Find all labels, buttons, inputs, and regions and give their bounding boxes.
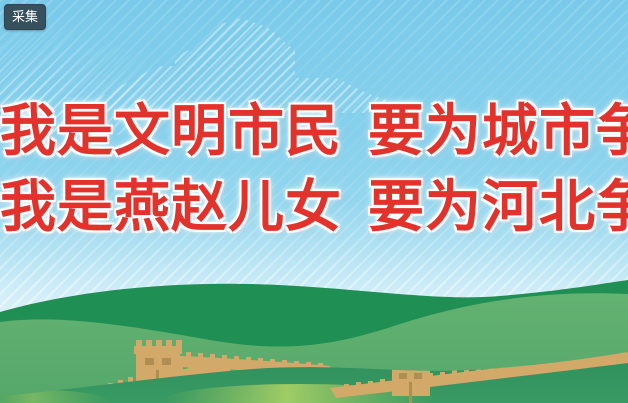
slogan-line-2: 我是燕赵儿女要为河北争气	[0, 180, 628, 236]
slogan-line-1: 我是文明市民要为城市争光	[0, 104, 628, 160]
banner-image: 我是文明市民要为城市争光 我是燕赵儿女要为河北争气 采集	[0, 0, 628, 403]
capture-button[interactable]: 采集	[4, 4, 46, 30]
landscape-hills	[0, 278, 628, 403]
slogan-line2-left: 我是燕赵儿女	[0, 175, 342, 240]
slogan-line1-right: 要为城市争光	[368, 99, 628, 164]
slogan-line2-right: 要为河北争气	[368, 175, 628, 240]
slogan-line1-left: 我是文明市民	[0, 99, 342, 164]
